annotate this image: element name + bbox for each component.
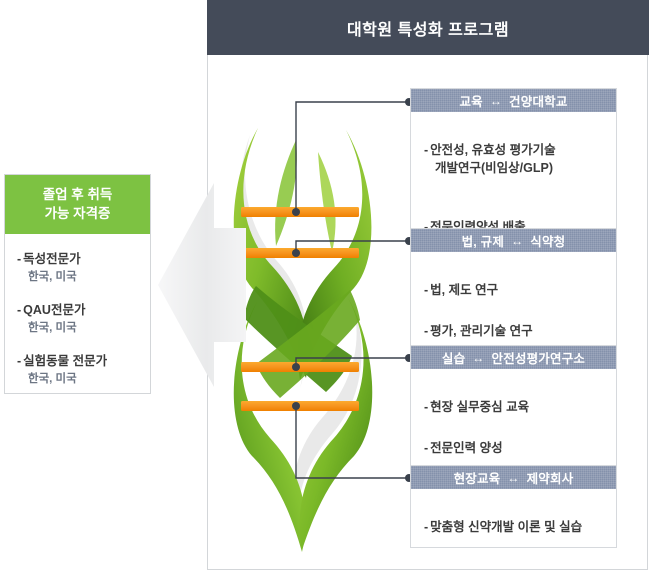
certificate-label: -QAU전문가: [17, 299, 140, 318]
program-detail-continuation: 개발연구(비임상/GLP): [424, 159, 608, 177]
list-item: -평가, 관리기술 연구: [424, 304, 608, 340]
bullet-dash-icon: -: [17, 354, 21, 368]
bidirectional-arrow-icon: ↔: [511, 234, 523, 248]
certificates-header: 졸업 후 취득 가능 자격증: [5, 175, 150, 234]
program-detail: 법, 제도 연구: [430, 283, 498, 297]
panel-header: 대학원 특성화 프로그램: [207, 0, 649, 55]
program-box-practicum: 실습 ↔ 안전성평가연구소 -현장 실무중심 교육 -전문인력 양성: [410, 345, 617, 469]
panel-title: 대학원 특성화 프로그램: [347, 16, 509, 40]
program-detail: 안전성, 유효성 평가기술: [430, 143, 555, 157]
program-topic: 법, 규제: [462, 231, 504, 250]
program-detail: 현장 실무중심 교육: [430, 400, 529, 414]
certificate-regions: 한국, 미국: [17, 319, 140, 335]
program-detail: 평가, 관리기술 연구: [430, 324, 532, 338]
certificates-title-line2: 가능 자격증: [9, 204, 146, 223]
list-item: -QAU전문가 한국, 미국: [17, 299, 140, 335]
list-item: -현장 실무중심 교육: [424, 380, 608, 416]
program-partner: 식약청: [530, 231, 565, 250]
program-body: -맞춤형 신약개발 이론 및 실습: [411, 489, 616, 547]
certificate-name: 독성전문가: [23, 252, 81, 266]
certificates-box: 졸업 후 취득 가능 자격증 -독성전문가 한국, 미국 -QAU전문가 한국,…: [4, 174, 151, 394]
list-item: -맞춤형 신약개발 이론 및 실습: [424, 500, 608, 536]
certificates-title-line1: 졸업 후 취득: [9, 185, 146, 204]
program-body: -안전성, 유효성 평가기술 개발연구(비임상/GLP) -전문인력양성 배출: [411, 112, 616, 247]
program-partner: 건양대학교: [509, 91, 568, 110]
bidirectional-arrow-icon: ↔: [507, 471, 519, 485]
list-item: -법, 제도 연구: [424, 263, 608, 299]
bidirectional-arrow-icon: ↔: [490, 94, 502, 108]
program-topic: 실습: [442, 348, 465, 367]
bullet-dash-icon: -: [424, 441, 428, 455]
program-topic: 교육: [459, 91, 482, 110]
infographic-root: 대학원 특성화 프로그램: [0, 0, 650, 575]
program-box-education: 교육 ↔ 건양대학교 -안전성, 유효성 평가기술 개발연구(비임상/GLP) …: [410, 88, 617, 248]
bidirectional-arrow-icon: ↔: [472, 351, 484, 365]
list-item: -전문인력 양성: [424, 421, 608, 457]
bullet-dash-icon: -: [17, 303, 21, 317]
bullet-dash-icon: -: [424, 520, 428, 534]
certificates-body: -독성전문가 한국, 미국 -QAU전문가 한국, 미국 -실험동물 전문가 한…: [5, 234, 150, 392]
certificate-label: -독성전문가: [17, 248, 140, 267]
program-box-law-regulation: 법, 규제 ↔ 식약청 -법, 제도 연구 -평가, 관리기술 연구: [410, 228, 617, 352]
program-partner: 안전성평가연구소: [492, 348, 586, 367]
list-item: -안전성, 유효성 평가기술 개발연구(비임상/GLP): [424, 123, 608, 195]
bullet-dash-icon: -: [424, 283, 428, 297]
program-header: 현장교육 ↔ 제약회사: [411, 466, 616, 489]
bullet-dash-icon: -: [424, 400, 428, 414]
program-partner: 제약회사: [527, 468, 574, 487]
certificate-regions: 한국, 미국: [17, 268, 140, 284]
bullet-dash-icon: -: [424, 143, 428, 157]
program-body: -법, 제도 연구 -평가, 관리기술 연구: [411, 252, 616, 351]
bullet-dash-icon: -: [424, 324, 428, 338]
certificate-regions: 한국, 미국: [17, 370, 140, 386]
program-box-field-training: 현장교육 ↔ 제약회사 -맞춤형 신약개발 이론 및 실습: [410, 465, 617, 548]
list-item: -독성전문가 한국, 미국: [17, 248, 140, 284]
certificate-name: QAU전문가: [23, 303, 85, 317]
bullet-dash-icon: -: [17, 252, 21, 266]
program-header: 법, 규제 ↔ 식약청: [411, 229, 616, 252]
list-item: -실험동물 전문가 한국, 미국: [17, 350, 140, 386]
program-body: -현장 실무중심 교육 -전문인력 양성: [411, 369, 616, 468]
certificate-label: -실험동물 전문가: [17, 350, 140, 369]
program-topic: 현장교육: [454, 468, 501, 487]
program-detail: 전문인력 양성: [430, 441, 502, 455]
program-header: 실습 ↔ 안전성평가연구소: [411, 346, 616, 369]
certificate-name: 실험동물 전문가: [23, 354, 107, 368]
program-header: 교육 ↔ 건양대학교: [411, 89, 616, 112]
program-detail: 맞춤형 신약개발 이론 및 실습: [430, 520, 582, 534]
